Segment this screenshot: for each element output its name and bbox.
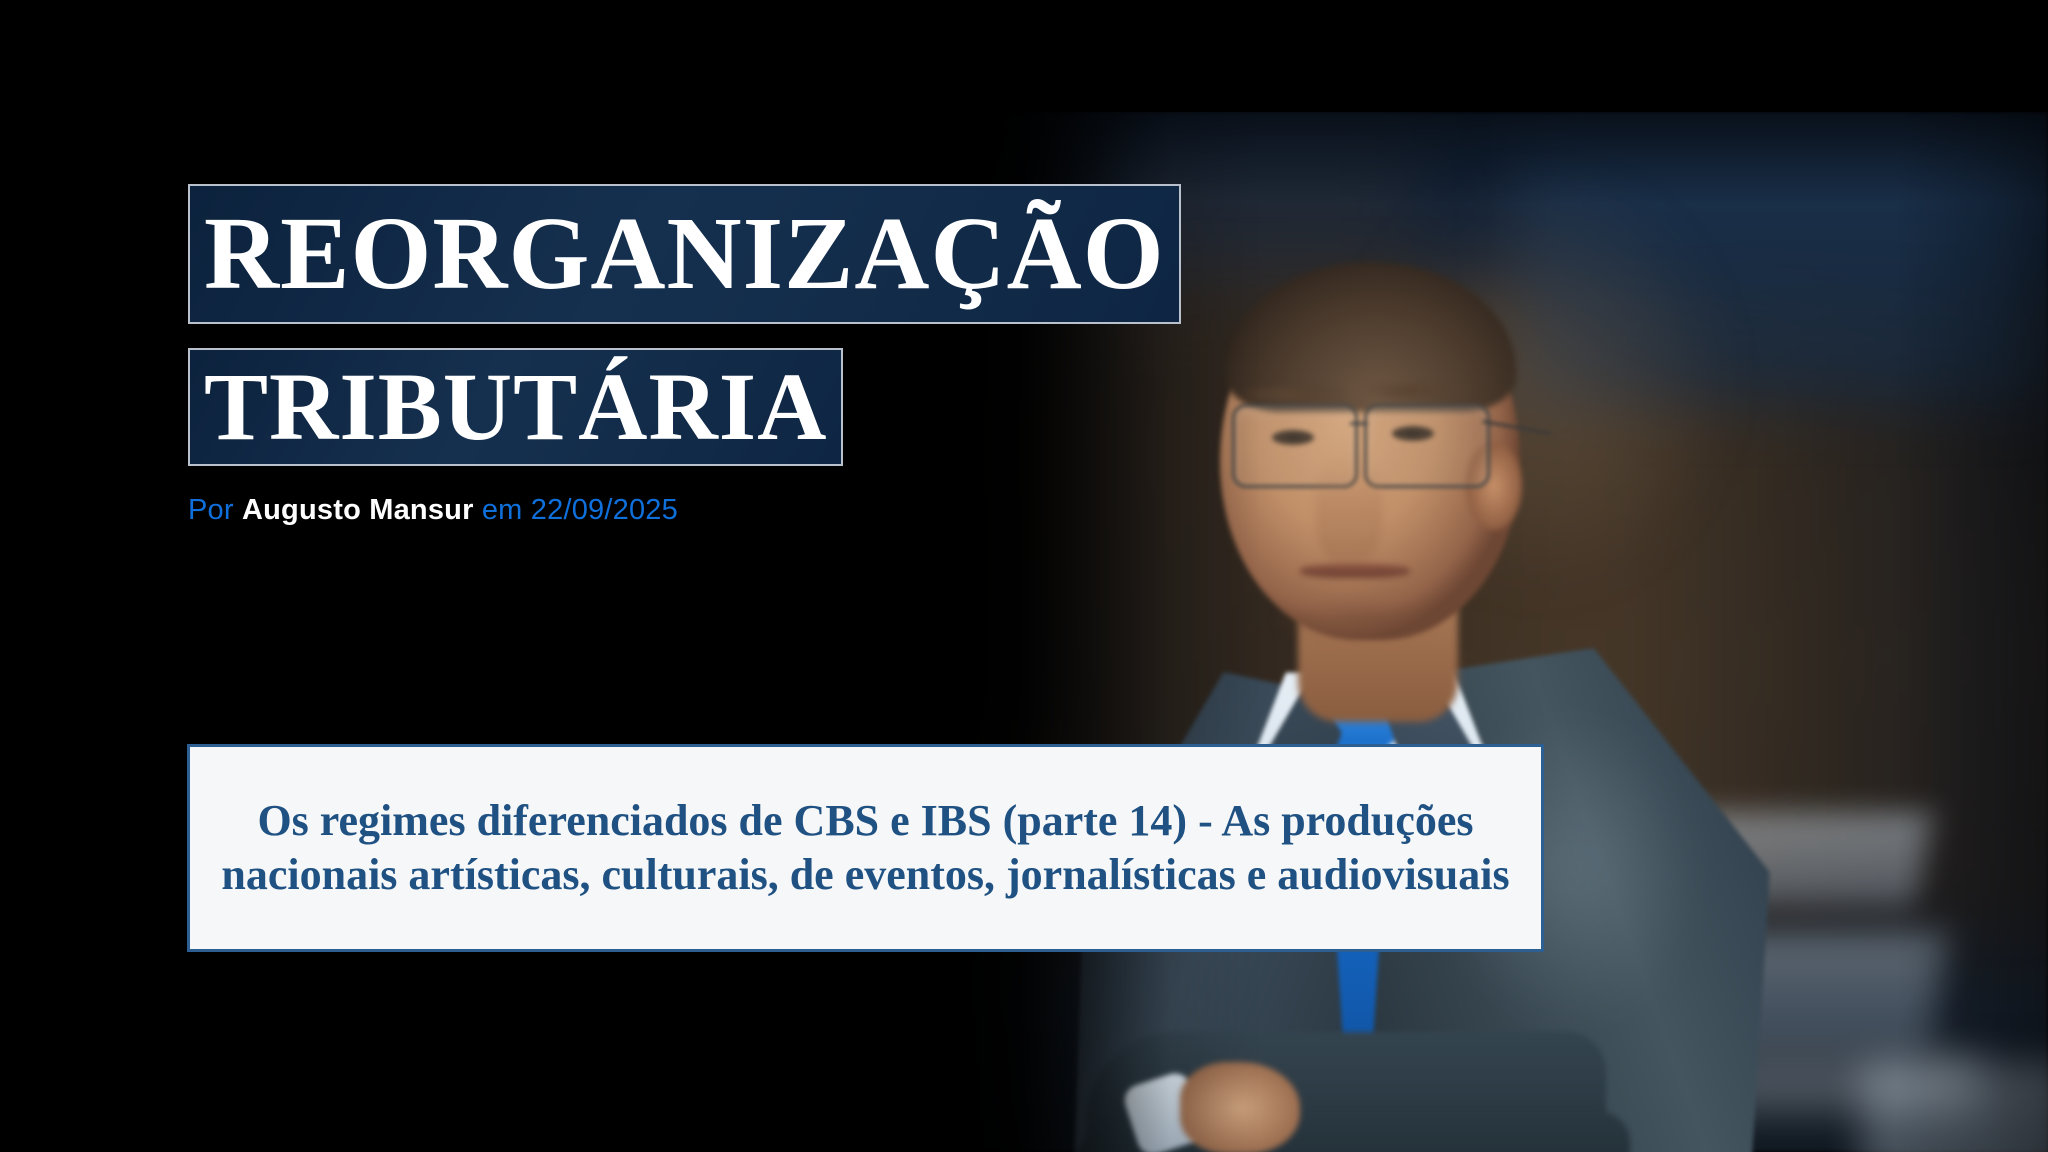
hand [1180,1062,1300,1152]
byline-date: 22/09/2025 [531,494,678,526]
eyeglass-bridge [1350,422,1368,425]
mouth [1300,564,1410,578]
eyebrow-left [1238,388,1346,401]
page-title-line-2: TRIBUTÁRIA [188,348,843,466]
eyeglass-lens-right [1364,404,1490,488]
byline-prefix: Por [188,494,234,526]
article-subtitle-text: Os regimes diferenciados de CBS e IBS (p… [190,794,1541,901]
article-cover-slide: REORGANIZAÇÃO TRIBUTÁRIA Por Augusto Man… [0,0,2048,1152]
byline-connector: em [482,494,523,526]
eyebrow-right [1364,384,1472,397]
article-subtitle-card: Os regimes diferenciados de CBS e IBS (p… [187,744,1544,952]
byline-author[interactable]: Augusto Mansur [242,494,474,526]
page-title-line-1: REORGANIZAÇÃO [188,184,1181,324]
chin-shadow [1270,598,1450,640]
nose [1316,456,1382,566]
byline: Por Augusto Mansur em 22/09/2025 [188,494,678,527]
